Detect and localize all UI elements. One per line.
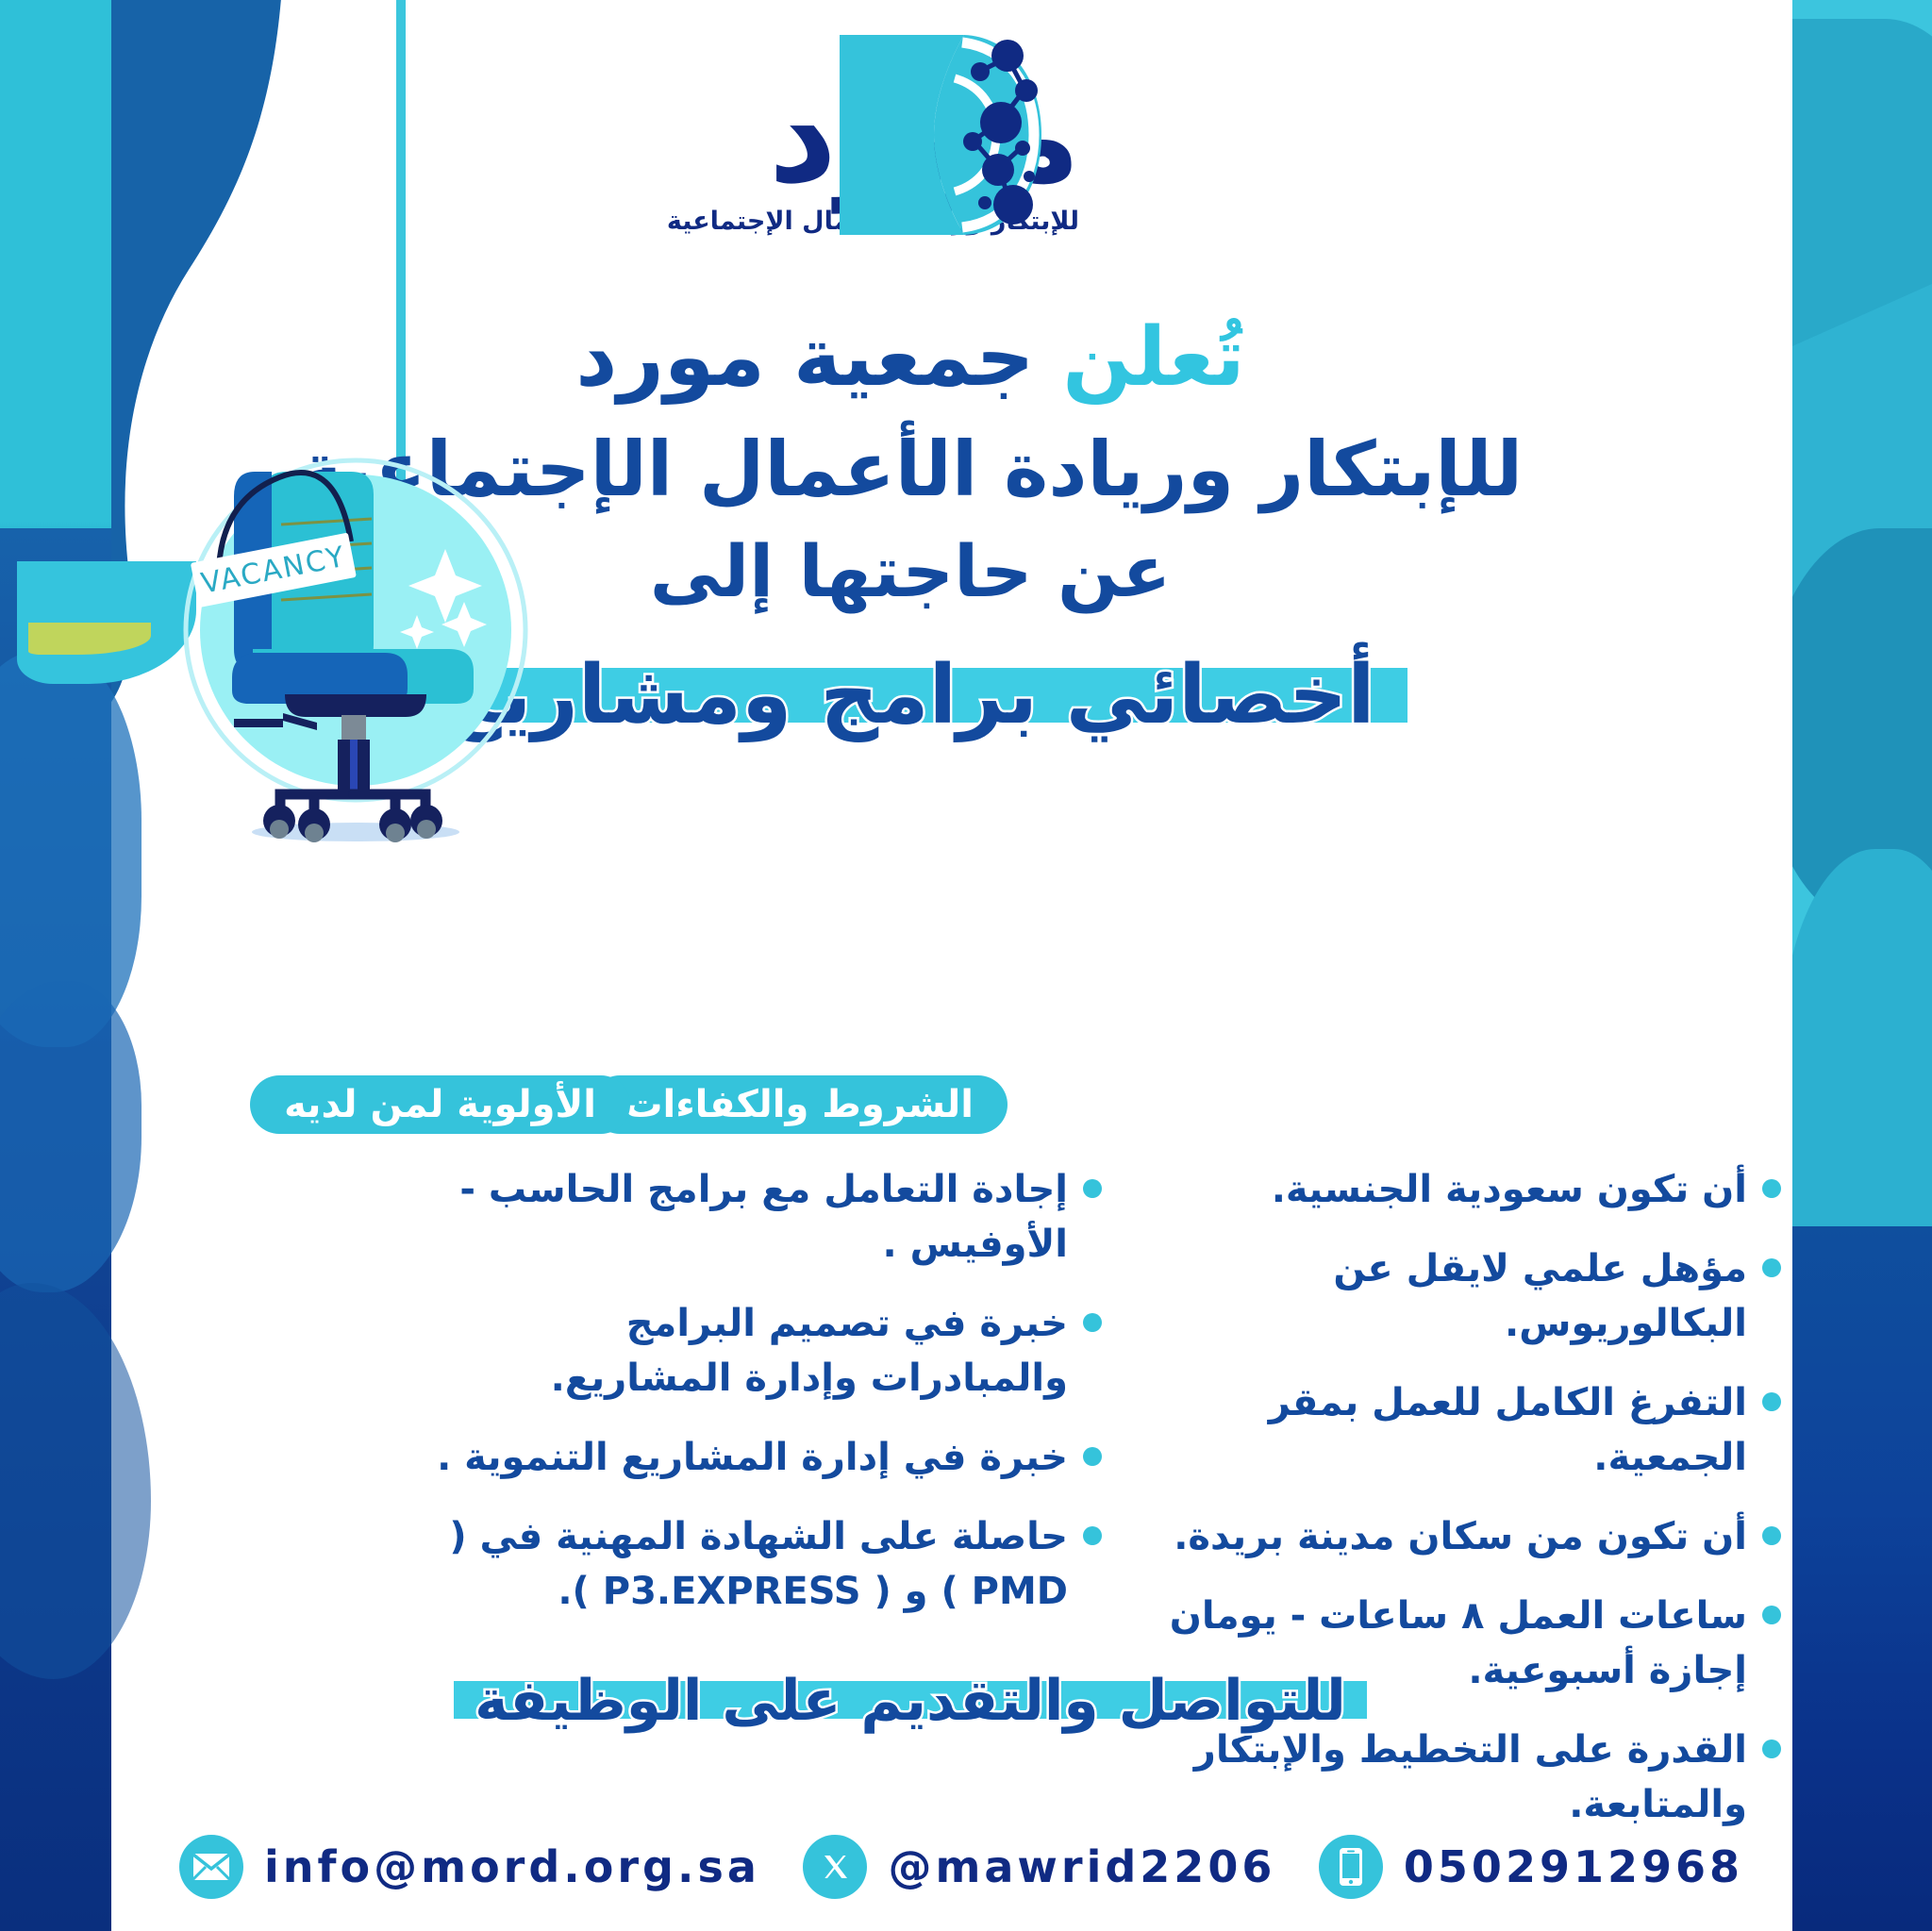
list-item: خبرة في إدارة المشاريع التنموية . <box>423 1430 1102 1485</box>
bullet-dot-icon <box>1762 1179 1781 1198</box>
requirement-text: التفرغ الكامل للعمل بمقر الجمعية. <box>1121 1375 1747 1485</box>
priority-text: خبرة في تصميم البرامج والمبادرات وإدارة … <box>423 1296 1068 1406</box>
section-pill-priority: الأولوية لمن لديه <box>250 1075 630 1134</box>
contact-banner-container: للتواصل والتقديم على الوظيفة <box>0 1660 1821 1741</box>
list-item: حاصلة على الشهادة المهنية في ( PMD ) و (… <box>423 1509 1102 1619</box>
list-item: مؤهل علمي لايقل عن البكالوريوس. <box>1121 1241 1781 1351</box>
background-right-shape-4 <box>1792 849 1932 1245</box>
background-left-blob-3 <box>0 1283 151 1679</box>
list-item: أن تكون سعودية الجنسية. <box>1121 1162 1781 1217</box>
contact-email[interactable]: info@mord.org.sa <box>179 1835 760 1899</box>
bullet-dot-icon <box>1083 1313 1102 1332</box>
background-left-blob-2 <box>0 981 142 1292</box>
contact-twitter[interactable]: @mawrid2206 <box>803 1835 1275 1899</box>
bullet-dot-icon <box>1762 1740 1781 1758</box>
office-chair-vacancy-illustration: VACANCY <box>162 443 558 849</box>
bullet-dot-icon <box>1762 1606 1781 1624</box>
requirement-text: مؤهل علمي لايقل عن البكالوريوس. <box>1121 1241 1747 1351</box>
priority-list: إجادة التعامل مع برامج الحاسب - الأوفيس … <box>423 1162 1102 1643</box>
x-twitter-icon[interactable] <box>803 1835 867 1899</box>
job-vacancy-poster: مورد للإبتكار وريادة الأعمال الإجتماعية <box>0 0 1932 1931</box>
list-item: التفرغ الكامل للعمل بمقر الجمعية. <box>1121 1375 1781 1485</box>
requirements-list: أن تكون سعودية الجنسية. مؤهل علمي لايقل … <box>1121 1162 1781 1856</box>
priority-text: إجادة التعامل مع برامج الحاسب - الأوفيس … <box>423 1162 1068 1272</box>
job-title: أخصائي برامج ومشاريع <box>413 640 1407 753</box>
bullet-dot-icon <box>1762 1258 1781 1277</box>
priority-text: حاصلة على الشهادة المهنية في ( PMD ) و (… <box>423 1509 1068 1619</box>
headline-line-1-rest: جمعية مورد <box>575 310 1034 405</box>
headline-line-1: تُعلن جمعية مورد <box>0 311 1821 405</box>
priority-text: خبرة في إدارة المشاريع التنموية . <box>423 1430 1068 1485</box>
organization-logo: مورد للإبتكار وريادة الأعمال الإجتماعية <box>659 17 1273 272</box>
bullet-dot-icon <box>1083 1179 1102 1198</box>
bullet-dot-icon <box>1083 1526 1102 1545</box>
requirement-text: أن تكون سعودية الجنسية. <box>1121 1162 1747 1217</box>
contact-phone[interactable]: 0502912968 <box>1319 1835 1743 1899</box>
section-pill-priority-label: الأولوية لمن لديه <box>284 1083 596 1126</box>
mobile-phone-icon[interactable] <box>1319 1835 1383 1899</box>
list-item: أن تكون من سكان مدينة بريدة. <box>1121 1509 1781 1564</box>
requirement-text: أن تكون من سكان مدينة بريدة. <box>1121 1509 1747 1564</box>
phone-number[interactable]: 0502912968 <box>1404 1841 1743 1892</box>
bullet-dot-icon <box>1762 1526 1781 1545</box>
bullet-dot-icon <box>1083 1447 1102 1466</box>
email-icon[interactable] <box>179 1835 243 1899</box>
list-item: إجادة التعامل مع برامج الحاسب - الأوفيس … <box>423 1162 1102 1272</box>
section-pill-requirements: الشروط والكفاءات <box>591 1075 1008 1134</box>
contact-banner: للتواصل والتقديم على الوظيفة <box>454 1660 1367 1741</box>
list-item: خبرة في تصميم البرامج والمبادرات وإدارة … <box>423 1296 1102 1406</box>
contact-row: info@mord.org.sa @mawrid2206 <box>179 1835 1743 1899</box>
twitter-handle[interactable]: @mawrid2206 <box>888 1841 1275 1892</box>
background-right-cyan-band <box>1792 0 1932 1245</box>
section-pill-requirements-label: الشروط والكفاءات <box>625 1083 974 1126</box>
headline-accent-word: تُعلن <box>1062 310 1244 405</box>
network-molecule-icon <box>823 27 1041 242</box>
email-address[interactable]: info@mord.org.sa <box>264 1841 760 1892</box>
bullet-dot-icon <box>1762 1392 1781 1411</box>
background-right-blue-band <box>1792 1226 1932 1931</box>
